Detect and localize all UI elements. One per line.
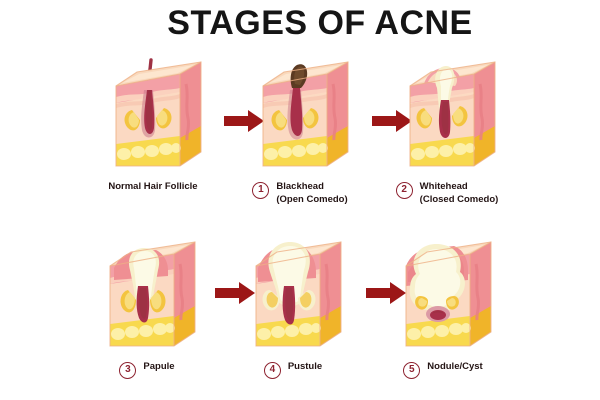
stage-nodule-cyst: 5 Nodule/Cyst — [358, 228, 528, 398]
page-title: STAGES OF ACNE — [20, 4, 600, 43]
stage-number-badge: 2 — [396, 182, 413, 199]
stage-caption: 3 Papule — [62, 361, 232, 379]
skin-block-pustule-illustration — [208, 228, 378, 363]
stage-number-badge: 4 — [264, 362, 281, 379]
stage-label: Papule — [143, 361, 174, 374]
stage-number-badge: 5 — [403, 362, 420, 379]
stage-number-badge: 1 — [252, 182, 269, 199]
stage-label: Blackhead (Open Comedo) — [276, 181, 347, 206]
skin-block-nodule-cyst-illustration — [358, 228, 528, 363]
stage-label: Whitehead (Closed Comedo) — [420, 181, 499, 206]
skin-block-blackhead-illustration — [215, 48, 385, 183]
stage-caption: 4 Pustule — [208, 361, 378, 379]
stage-number-badge: 3 — [119, 362, 136, 379]
skin-block-whitehead-illustration — [362, 48, 532, 183]
stage-caption: 5 Nodule/Cyst — [358, 361, 528, 379]
stage-papule: 3 Papule — [62, 228, 232, 398]
acne-stages-diagram: STAGES OF ACNE — [0, 0, 600, 400]
skin-block-papule-illustration — [62, 228, 232, 363]
stage-label: Normal Hair Follicle — [108, 181, 197, 194]
stage-blackhead: 1 Blackhead (Open Comedo) — [215, 48, 385, 218]
stage-pustule: 4 Pustule — [208, 228, 378, 398]
skin-block-normal-illustration — [68, 48, 238, 183]
stage-caption: 2 Whitehead (Closed Comedo) — [362, 181, 532, 206]
stage-whitehead: 2 Whitehead (Closed Comedo) — [362, 48, 532, 218]
stage-caption: Normal Hair Follicle — [68, 181, 238, 194]
stage-label: Nodule/Cyst — [427, 361, 482, 374]
stage-caption: 1 Blackhead (Open Comedo) — [215, 181, 385, 206]
stage-normal-hair-follicle: Normal Hair Follicle — [68, 48, 238, 218]
stage-label: Pustule — [288, 361, 322, 374]
